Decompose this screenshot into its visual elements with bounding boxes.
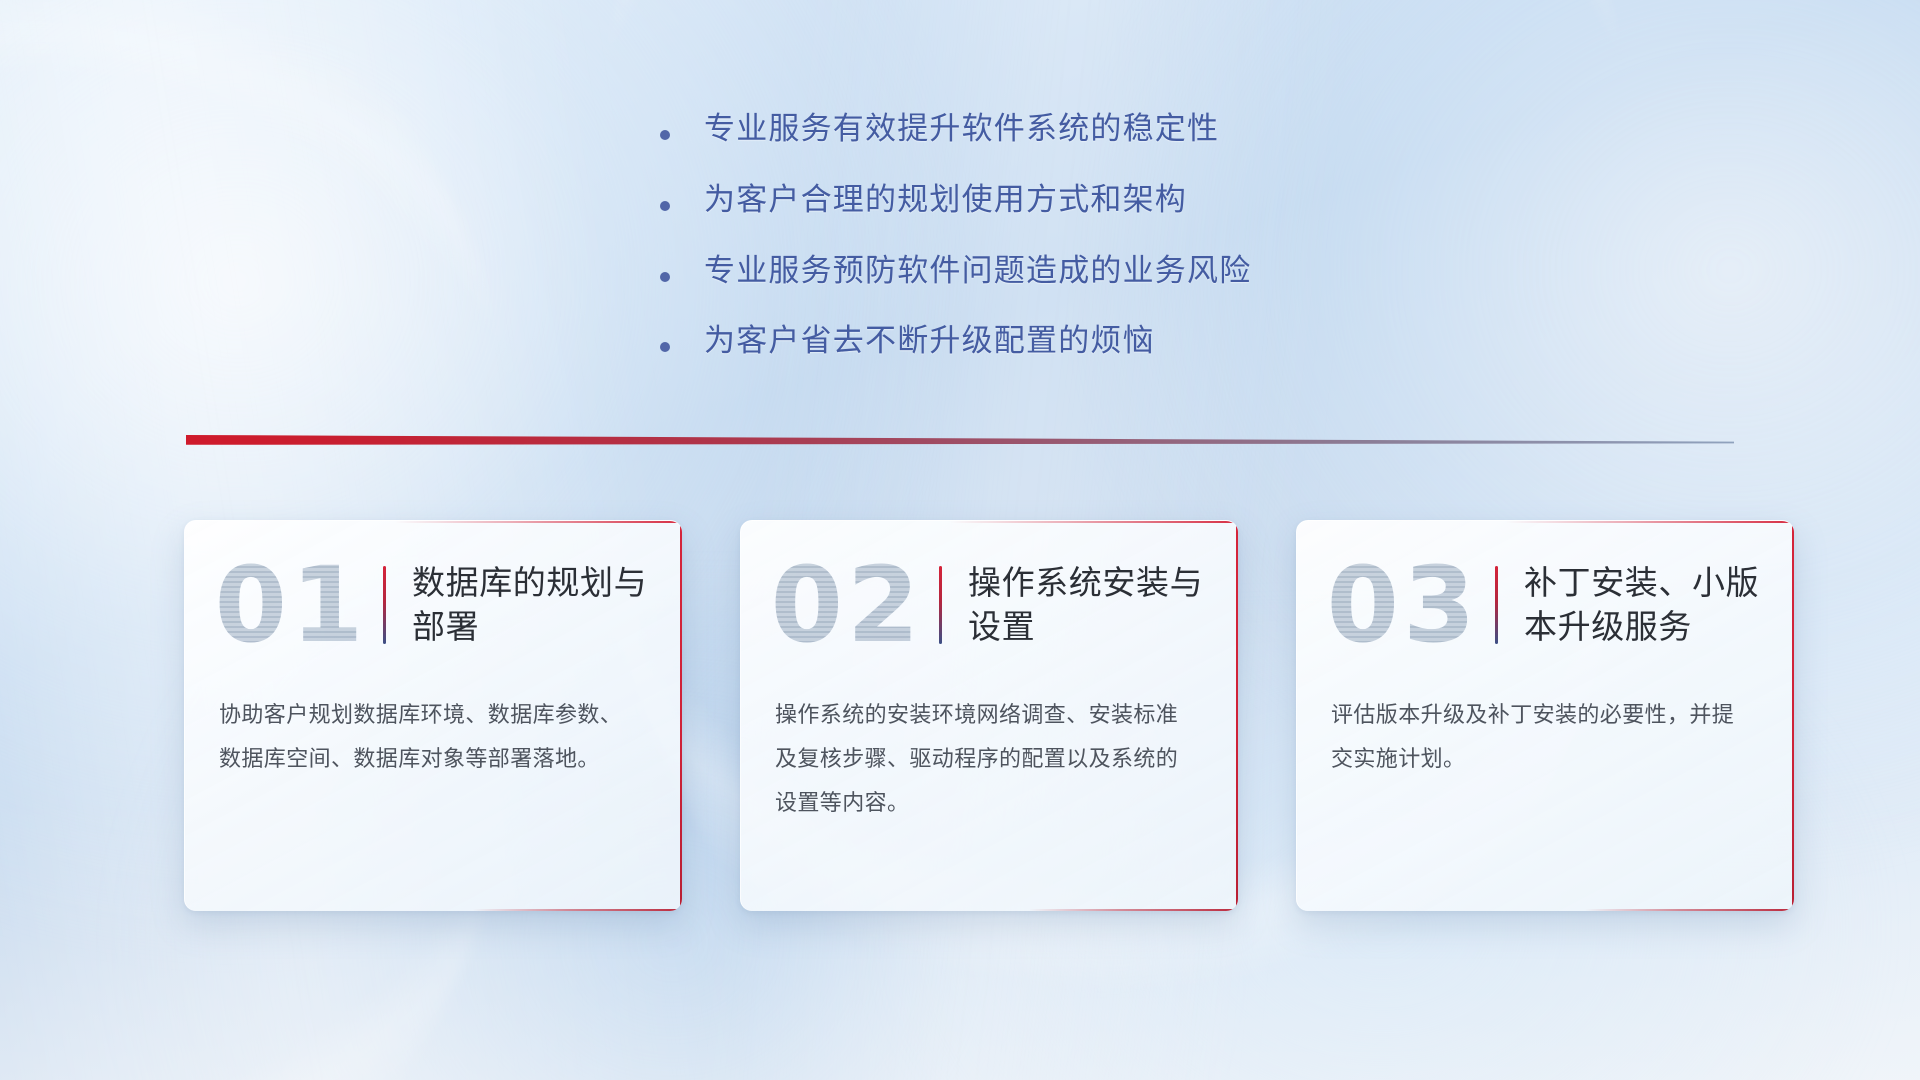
bullet-dot-icon: [660, 272, 670, 282]
bullet-dot-icon: [660, 130, 670, 140]
card-description: 评估版本升级及补丁安装的必要性，并提交实施计划。: [1297, 689, 1794, 781]
card-number-watermark: 02 02: [759, 541, 935, 669]
card-title-accent-bar: [1495, 566, 1498, 644]
card-accent-bottom: [1029, 909, 1238, 911]
card-title: 操作系统安装与设置: [968, 561, 1238, 648]
card-header: 01 01 数据库的规划与部署: [185, 521, 682, 689]
list-item: 专业服务预防软件问题造成的业务风险: [660, 252, 1420, 291]
card-number-stripes: 03: [1315, 541, 1491, 669]
card-title-accent-bar: [939, 566, 942, 644]
slide-canvas: 专业服务有效提升软件系统的稳定性 为客户合理的规划使用方式和架构 专业服务预防软…: [0, 0, 1920, 1080]
card-description: 操作系统的安装环境网络调查、安装标准及复核步骤、驱动程序的配置以及系统的设置等内…: [741, 689, 1238, 825]
bullet-text: 专业服务有效提升软件系统的稳定性: [704, 110, 1219, 149]
card-title: 数据库的规划与部署: [412, 561, 682, 648]
card-number-watermark: 01 01: [203, 541, 379, 669]
service-card-01[interactable]: 01 01 数据库的规划与部署 协助客户规划数据库环境、数据库参数、数据库空间、…: [184, 520, 682, 911]
card-header: 03 03 补丁安装、小版本升级服务: [1297, 521, 1794, 689]
list-item: 为客户合理的规划使用方式和架构: [660, 181, 1420, 220]
bullet-text: 专业服务预防软件问题造成的业务风险: [704, 252, 1251, 291]
service-card-row: 01 01 数据库的规划与部署 协助客户规划数据库环境、数据库参数、数据库空间、…: [184, 520, 1794, 911]
bullet-text: 为客户合理的规划使用方式和架构: [704, 181, 1187, 220]
card-accent-bottom: [473, 909, 682, 911]
card-accent-bottom: [1585, 909, 1794, 911]
list-item: 专业服务有效提升软件系统的稳定性: [660, 110, 1420, 149]
benefits-bullet-list: 专业服务有效提升软件系统的稳定性 为客户合理的规划使用方式和架构 专业服务预防软…: [660, 110, 1420, 393]
card-description: 协助客户规划数据库环境、数据库参数、数据库空间、数据库对象等部署落地。: [185, 689, 682, 781]
card-title-accent-bar: [383, 566, 386, 644]
card-number-stripes: 01: [203, 541, 379, 669]
divider-shape-icon: [186, 432, 1734, 448]
service-card-02[interactable]: 02 02 操作系统安装与设置 操作系统的安装环境网络调查、安装标准及复核步骤、…: [740, 520, 1238, 911]
list-item: 为客户省去不断升级配置的烦恼: [660, 322, 1420, 361]
card-number-stripes: 02: [759, 541, 935, 669]
bullet-dot-icon: [660, 342, 670, 352]
card-header: 02 02 操作系统安装与设置: [741, 521, 1238, 689]
service-card-03[interactable]: 03 03 补丁安装、小版本升级服务 评估版本升级及补丁安装的必要性，并提交实施…: [1296, 520, 1794, 911]
card-number-watermark: 03 03: [1315, 541, 1491, 669]
bullet-dot-icon: [660, 201, 670, 211]
bullet-text: 为客户省去不断升级配置的烦恼: [704, 322, 1155, 361]
red-gradient-divider: [186, 432, 1734, 448]
card-title: 补丁安装、小版本升级服务: [1524, 561, 1794, 648]
